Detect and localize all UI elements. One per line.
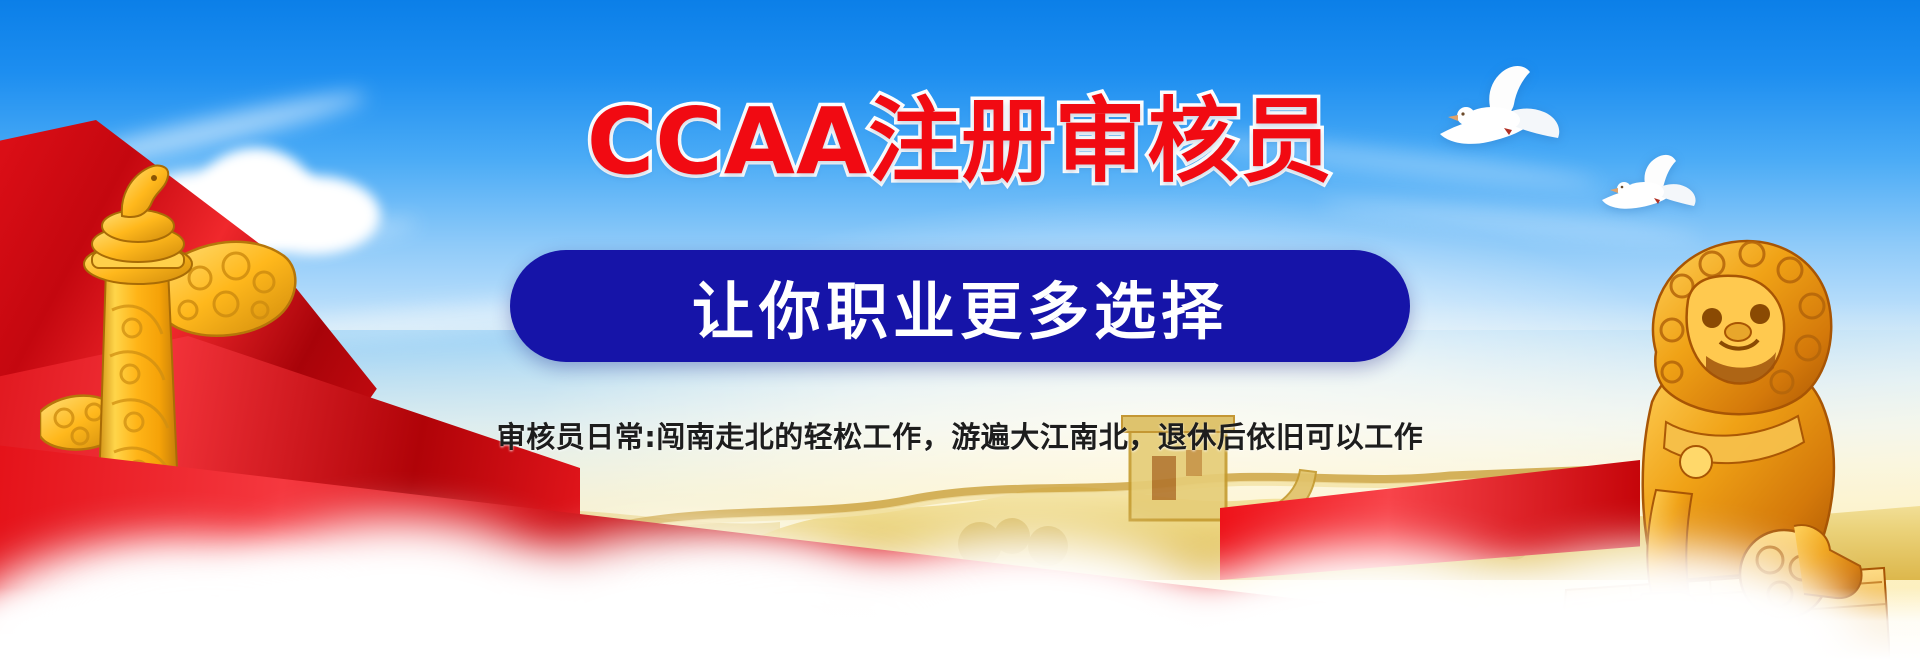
banner-content: CCAA注册审核员 让你职业更多选择 审核员日常:闯南走北的轻松工作，游遍大江南… (0, 0, 1920, 660)
cta-pill-button[interactable]: 让你职业更多选择 (510, 250, 1410, 362)
banner-subline: 审核员日常:闯南走北的轻松工作，游遍大江南北，退休后依旧可以工作 (0, 414, 1920, 456)
promo-banner: CCAA注册审核员 让你职业更多选择 审核员日常:闯南走北的轻松工作，游遍大江南… (0, 0, 1920, 660)
banner-headline: CCAA注册审核员 (0, 96, 1920, 188)
cta-pill-label: 让你职业更多选择 (692, 261, 1228, 351)
